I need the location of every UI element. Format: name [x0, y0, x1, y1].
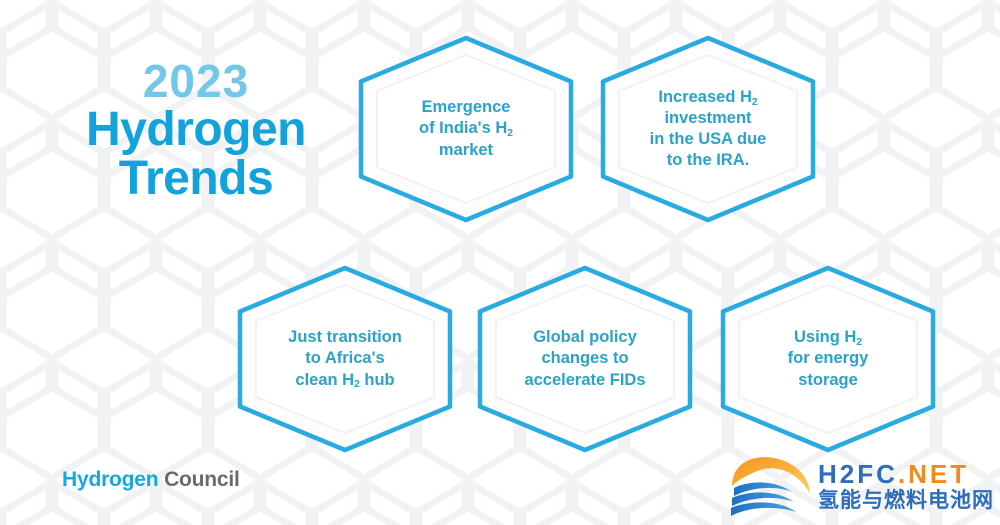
hex-text-line: of India's H2: [419, 118, 513, 139]
h2fc-chinese-text: 氢能与燃料电池网: [818, 490, 994, 511]
hex-text-line: investment: [650, 108, 767, 129]
logo-brand: Hydrogen: [62, 468, 158, 491]
hex-text-line: to Africa's: [288, 348, 402, 369]
title-line-2: Trends: [46, 155, 346, 204]
hex-card-usa-ira[interactable]: Increased H2investmentin the USA dueto t…: [597, 33, 819, 225]
hex-text-line: Increased H2: [650, 87, 767, 108]
hex-card-india-market[interactable]: Emergenceof India's H2market: [355, 33, 577, 225]
hex-text-line: Just transition: [288, 327, 402, 348]
h2fc-sun-wave-icon: [730, 452, 814, 520]
hex-label-usa-ira: Increased H2investmentin the USA dueto t…: [597, 33, 819, 225]
h2fc-wordmark: H2FC.NET 氢能与燃料电池网: [818, 461, 994, 511]
hex-text-line: storage: [788, 370, 869, 391]
logo-suffix: Council: [164, 468, 240, 491]
hex-text-line: accelerate FIDs: [524, 370, 645, 391]
title-main: Hydrogen Trends: [46, 106, 346, 204]
hex-text-line: market: [419, 140, 513, 161]
hex-text-line: Using H2: [788, 327, 869, 348]
h2fc-domain: H2FC.NET: [818, 461, 994, 487]
page-title: 2023 Hydrogen Trends: [46, 58, 346, 204]
hex-card-africa-hub[interactable]: Just transitionto Africa'sclean H2 hub: [234, 263, 456, 455]
hex-text-line: changes to: [524, 348, 645, 369]
hex-text-line: to the IRA.: [650, 150, 767, 171]
h2fc-domain-tld: .NET: [898, 459, 969, 489]
hex-text-line: for energy: [788, 348, 869, 369]
hex-text-line: Emergence: [419, 97, 513, 118]
hex-label-global-policy: Global policychanges toaccelerate FIDs: [474, 263, 696, 455]
infographic-canvas: 2023 Hydrogen Trends Emergenceof India's…: [0, 0, 1000, 525]
h2fc-watermark: H2FC.NET 氢能与燃料电池网: [730, 450, 998, 522]
hex-text-line: in the USA due: [650, 129, 767, 150]
hex-text-line: clean H2 hub: [288, 370, 402, 391]
hex-label-energy-storage: Using H2for energystorage: [717, 263, 939, 455]
hex-label-africa-hub: Just transitionto Africa'sclean H2 hub: [234, 263, 456, 455]
hex-text-line: Global policy: [524, 327, 645, 348]
title-line-1: Hydrogen: [46, 106, 346, 155]
hex-card-global-policy[interactable]: Global policychanges toaccelerate FIDs: [474, 263, 696, 455]
hex-label-india-market: Emergenceof India's H2market: [355, 33, 577, 225]
h2fc-domain-name: H2FC: [818, 459, 898, 489]
hydrogen-council-logo: Hydrogen Council: [62, 468, 240, 492]
title-year: 2023: [46, 58, 346, 104]
hex-card-energy-storage[interactable]: Using H2for energystorage: [717, 263, 939, 455]
